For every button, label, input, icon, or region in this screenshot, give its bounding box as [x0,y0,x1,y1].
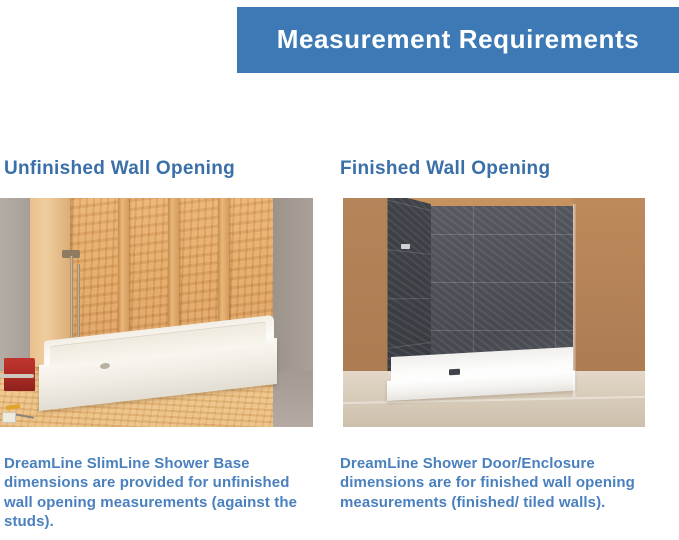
shower-fixture [401,244,410,249]
hand-tool [2,412,16,423]
drywall-floor-strip [273,371,313,427]
photo-unfinished-scene [0,198,313,427]
caption-finished: DreamLine Shower Door/Enclosure dimensio… [340,454,650,512]
photo-finished-wall-opening [343,198,645,427]
section-heading-unfinished: Unfinished Wall Opening [4,158,235,180]
photo-finished-scene [343,198,645,427]
page-title: Measurement Requirements [277,26,640,54]
caption-unfinished: DreamLine SlimLine Shower Base dimension… [4,454,304,531]
section-heading-finished: Finished Wall Opening [340,158,550,180]
enclosure-glass-edge [573,204,576,397]
toolbox-handle [0,374,34,378]
header-banner: Measurement Requirements [237,7,679,73]
shower-drain [449,369,460,376]
photo-unfinished-wall-opening [0,198,313,427]
